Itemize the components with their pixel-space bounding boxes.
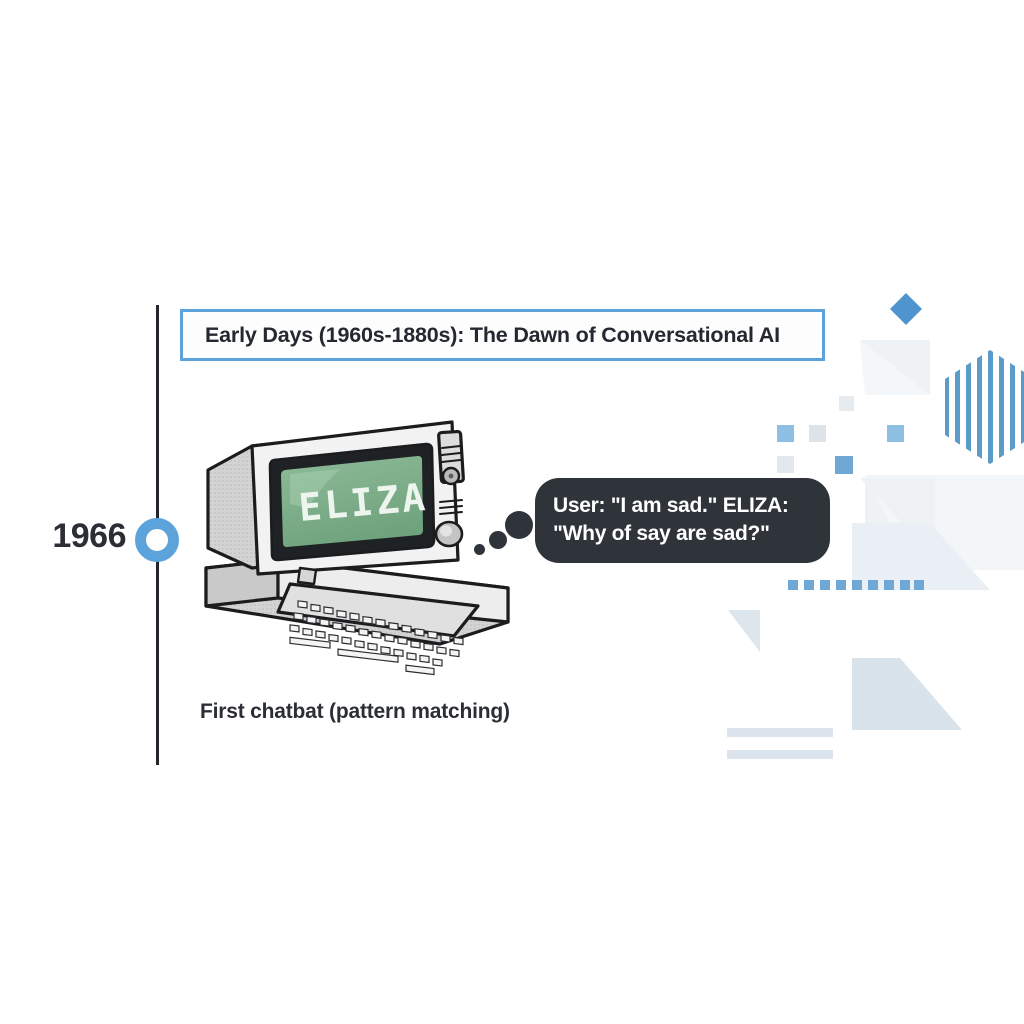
section-title-text: Early Days (1960s-1880s): The Dawn of Co… (205, 323, 780, 348)
slide-canvas: 1966 Early Days (1960s-1880s): The Dawn … (0, 0, 1024, 1024)
decor-square (835, 456, 853, 474)
timeline-marker-1966[interactable] (135, 518, 179, 562)
event-caption: First chatbat (pattern matching) (200, 700, 510, 724)
decor-square (839, 396, 854, 411)
diamond-shape-icon (889, 292, 923, 326)
striped-hexagon-icon (938, 348, 1024, 466)
thought-dot-medium (489, 531, 507, 549)
decor-square (777, 425, 794, 442)
speech-bubble-line-2: "Why of say are sad?" (553, 520, 812, 548)
dotted-line-decoration (788, 580, 924, 594)
decor-square (887, 425, 904, 442)
decor-square (777, 456, 794, 473)
section-title-box: Early Days (1960s-1880s): The Dawn of Co… (180, 309, 825, 361)
eliza-speech-bubble: User: "I am sad." ELIZA: "Why of say are… (535, 478, 830, 563)
speech-bubble-line-1: User: "I am sad." ELIZA: (553, 492, 812, 520)
thought-dot-small (474, 544, 485, 555)
decor-bar (727, 750, 833, 759)
retro-computer-illustration: ELIZA (190, 408, 530, 678)
decor-square (809, 425, 826, 442)
thought-dot-large (505, 511, 533, 539)
decor-bar (727, 728, 833, 737)
timeline-year-label: 1966 (18, 517, 126, 556)
